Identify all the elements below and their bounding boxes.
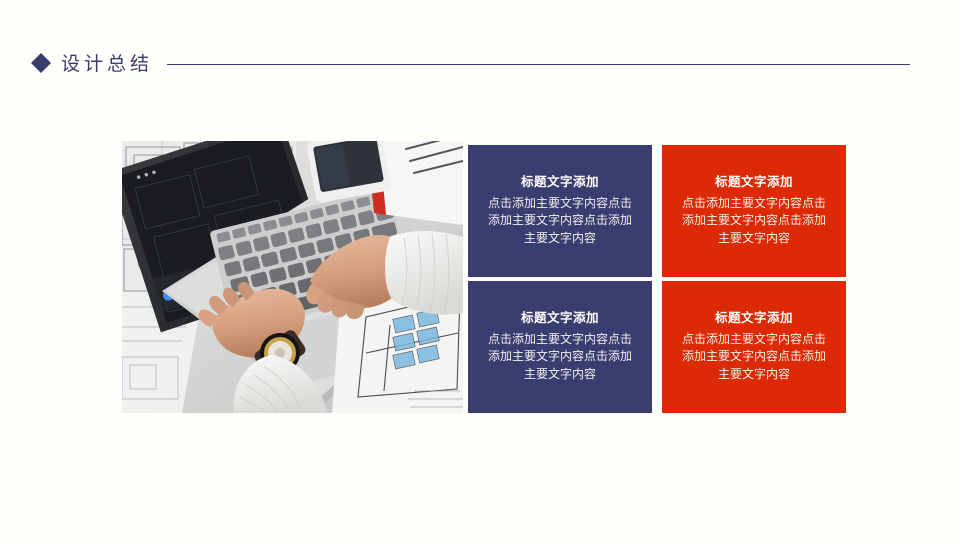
card-body: 点击添加主要文字内容点击添加主要文字内容点击添加主要文字内容 — [484, 195, 636, 247]
info-card-top-left[interactable]: 标题文字添加 点击添加主要文字内容点击添加主要文字内容点击添加主要文字内容 — [468, 145, 652, 277]
info-card-bottom-right[interactable]: 标题文字添加 点击添加主要文字内容点击添加主要文字内容点击添加主要文字内容 — [662, 281, 846, 413]
content-area: 标题文字添加 点击添加主要文字内容点击添加主要文字内容点击添加主要文字内容 标题… — [122, 141, 846, 413]
info-card-top-right[interactable]: 标题文字添加 点击添加主要文字内容点击添加主要文字内容点击添加主要文字内容 — [662, 145, 846, 277]
page-title: 设计总结 — [61, 49, 165, 76]
diamond-icon — [30, 52, 52, 74]
card-title: 标题文字添加 — [521, 175, 599, 190]
card-title: 标题文字添加 — [715, 175, 793, 190]
title-divider-rule — [167, 64, 910, 65]
card-body: 点击添加主要文字内容点击添加主要文字内容点击添加主要文字内容 — [678, 331, 830, 383]
slide-header: 设计总结 — [30, 44, 910, 80]
card-title: 标题文字添加 — [715, 311, 793, 326]
info-card-grid: 标题文字添加 点击添加主要文字内容点击添加主要文字内容点击添加主要文字内容 标题… — [468, 145, 846, 413]
card-body: 点击添加主要文字内容点击添加主要文字内容点击添加主要文字内容 — [484, 331, 636, 383]
info-card-bottom-left[interactable]: 标题文字添加 点击添加主要文字内容点击添加主要文字内容点击添加主要文字内容 — [468, 281, 652, 413]
laptop-blueprint-photo — [122, 141, 463, 413]
slide-canvas: 设计总结 — [0, 0, 960, 540]
card-title: 标题文字添加 — [521, 311, 599, 326]
card-body: 点击添加主要文字内容点击添加主要文字内容点击添加主要文字内容 — [678, 195, 830, 247]
